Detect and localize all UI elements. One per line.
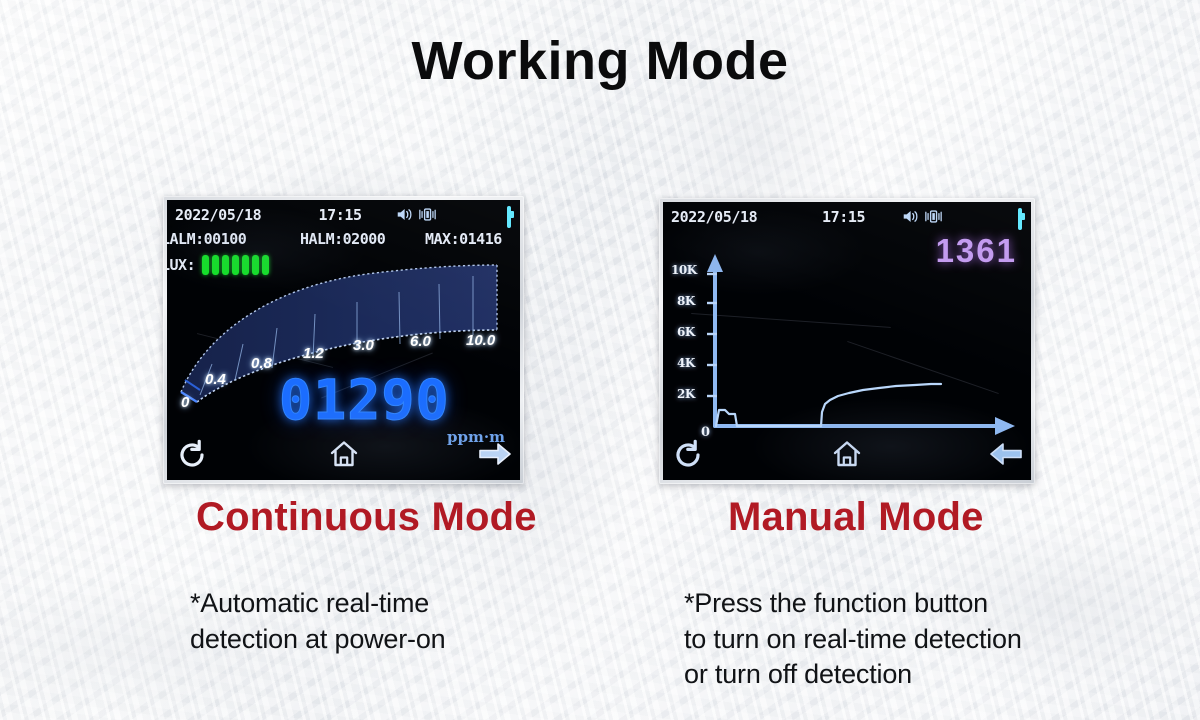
refresh-icon xyxy=(671,438,705,472)
home-button[interactable] xyxy=(328,438,360,474)
lcd-screen: 2022/05/18 17:15 xyxy=(167,200,520,480)
device-screen-continuous: 2022/05/18 17:15 xyxy=(163,196,524,484)
mode-label-manual: Manual Mode xyxy=(728,495,984,540)
caption-line: detection at power-on xyxy=(190,622,445,658)
status-icons xyxy=(396,207,436,222)
trend-chart-graphic xyxy=(663,244,1031,449)
vibrate-icon xyxy=(419,207,436,222)
trend-chart: 10K 8K 6K 4K 2K 0 xyxy=(663,244,1031,449)
high-alarm-value: HALM:02000 xyxy=(300,230,385,248)
status-bar: 2022/05/18 17:15 xyxy=(663,208,1031,228)
device-screen-manual: 2022/05/18 17:15 1361 xyxy=(659,198,1035,484)
arrow-left-icon xyxy=(989,441,1023,467)
device-bezel: 2022/05/18 17:15 1361 xyxy=(659,198,1035,484)
bottom-nav-bar xyxy=(167,434,520,476)
mode-label-continuous: Continuous Mode xyxy=(196,495,537,540)
caption-line: or turn off detection xyxy=(684,657,1022,693)
refresh-button[interactable] xyxy=(671,438,705,476)
y-tick-2k: 2K xyxy=(677,387,695,401)
back-button[interactable] xyxy=(989,441,1023,471)
battery-icon xyxy=(1018,210,1022,228)
caption-line: *Automatic real-time xyxy=(190,586,445,622)
vibrate-icon xyxy=(925,209,942,224)
gauge-tick-3: 1.2 xyxy=(303,345,324,362)
caption-manual: *Press the function button to turn on re… xyxy=(684,586,1022,693)
home-icon xyxy=(328,438,360,470)
gauge-tick-2: 0.8 xyxy=(251,355,272,372)
gauge-tick-1: 0.4 xyxy=(205,371,226,388)
status-date: 2022/05/18 xyxy=(175,206,261,224)
gauge-tick-0: 0 xyxy=(181,394,189,411)
low-alarm-value: LALM:00100 xyxy=(167,230,246,248)
home-icon xyxy=(831,438,863,470)
status-time: 17:15 xyxy=(822,208,865,226)
speaker-on-icon xyxy=(902,209,921,224)
bottom-nav-bar xyxy=(663,434,1031,476)
speaker-on-icon xyxy=(396,207,415,222)
battery-icon xyxy=(507,208,511,226)
caption-continuous: *Automatic real-time detection at power-… xyxy=(190,586,445,657)
page-title: Working Mode xyxy=(0,30,1200,92)
refresh-icon xyxy=(175,438,209,472)
caption-line: *Press the function button xyxy=(684,586,1022,622)
arrow-right-icon xyxy=(478,441,512,467)
gauge-tick-4: 3.0 xyxy=(353,337,374,354)
refresh-button[interactable] xyxy=(175,438,209,476)
y-tick-6k: 6K xyxy=(677,325,695,339)
max-value: MAX:01416 xyxy=(425,230,502,248)
y-tick-4k: 4K xyxy=(677,356,695,370)
primary-reading: 01290 xyxy=(279,368,450,432)
status-icons xyxy=(902,209,942,224)
y-tick-8k: 8K xyxy=(677,294,695,308)
home-button[interactable] xyxy=(831,438,863,474)
y-tick-10k: 10K xyxy=(671,263,697,277)
next-button[interactable] xyxy=(478,441,512,471)
status-bar: 2022/05/18 17:15 xyxy=(167,206,520,226)
device-bezel: 2022/05/18 17:15 xyxy=(163,196,524,484)
caption-line: to turn on real-time detection xyxy=(684,622,1022,658)
status-time: 17:15 xyxy=(318,206,361,224)
status-date: 2022/05/18 xyxy=(671,208,757,226)
gauge-tick-5: 6.0 xyxy=(410,333,431,350)
lcd-screen: 2022/05/18 17:15 1361 xyxy=(663,202,1031,480)
gauge-tick-6: 10.0 xyxy=(466,332,495,349)
alarm-thresholds-row: LALM:00100 HALM:02000 MAX:01416 xyxy=(167,230,520,250)
